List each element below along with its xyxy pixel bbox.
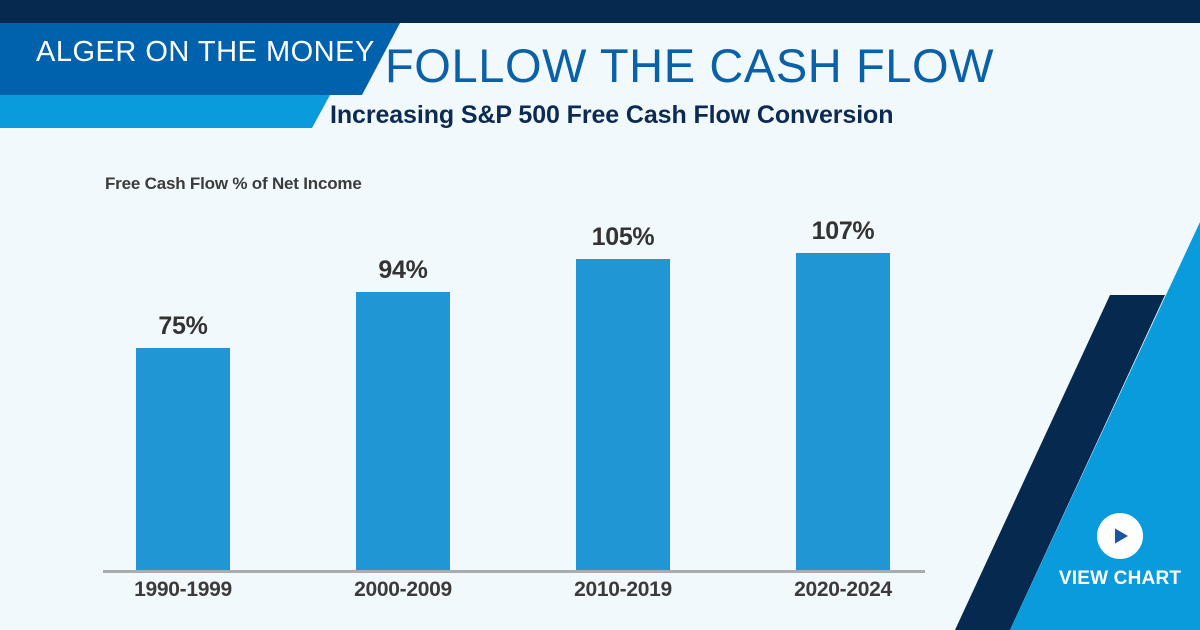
bar-value-label: 75% [158, 314, 207, 339]
bar-rect [796, 253, 890, 571]
infographic-canvas: ALGER ON THE MONEY FOLLOW THE CASH FLOW … [0, 0, 1200, 630]
bar-value-label: 105% [592, 225, 655, 250]
bar-column: 75% [136, 314, 230, 571]
bar-category-label: 2020-2024 [763, 578, 923, 602]
view-chart-label: VIEW CHART [1059, 568, 1181, 590]
chart-plot-area: 75%94%105%107% [103, 200, 925, 571]
bar-category-label: 2000-2009 [323, 578, 483, 602]
bar-value-label: 94% [378, 258, 427, 283]
bar-column: 107% [796, 219, 890, 571]
bar-column: 94% [356, 258, 450, 571]
bar-column: 105% [576, 225, 670, 571]
bar-rect [356, 292, 450, 571]
chart-axis-title: Free Cash Flow % of Net Income [105, 174, 362, 194]
bar-category-label: 1990-1999 [103, 578, 263, 602]
bar-chart: Free Cash Flow % of Net Income 75%94%105… [0, 0, 1200, 630]
bar-category-label: 2010-2019 [543, 578, 703, 602]
view-chart-button[interactable]: VIEW CHART [1063, 513, 1177, 590]
bar-rect [576, 259, 670, 571]
chart-baseline-axis [103, 570, 925, 573]
bar-value-label: 107% [812, 219, 875, 244]
bar-rect [136, 348, 230, 571]
play-icon[interactable] [1097, 513, 1143, 559]
